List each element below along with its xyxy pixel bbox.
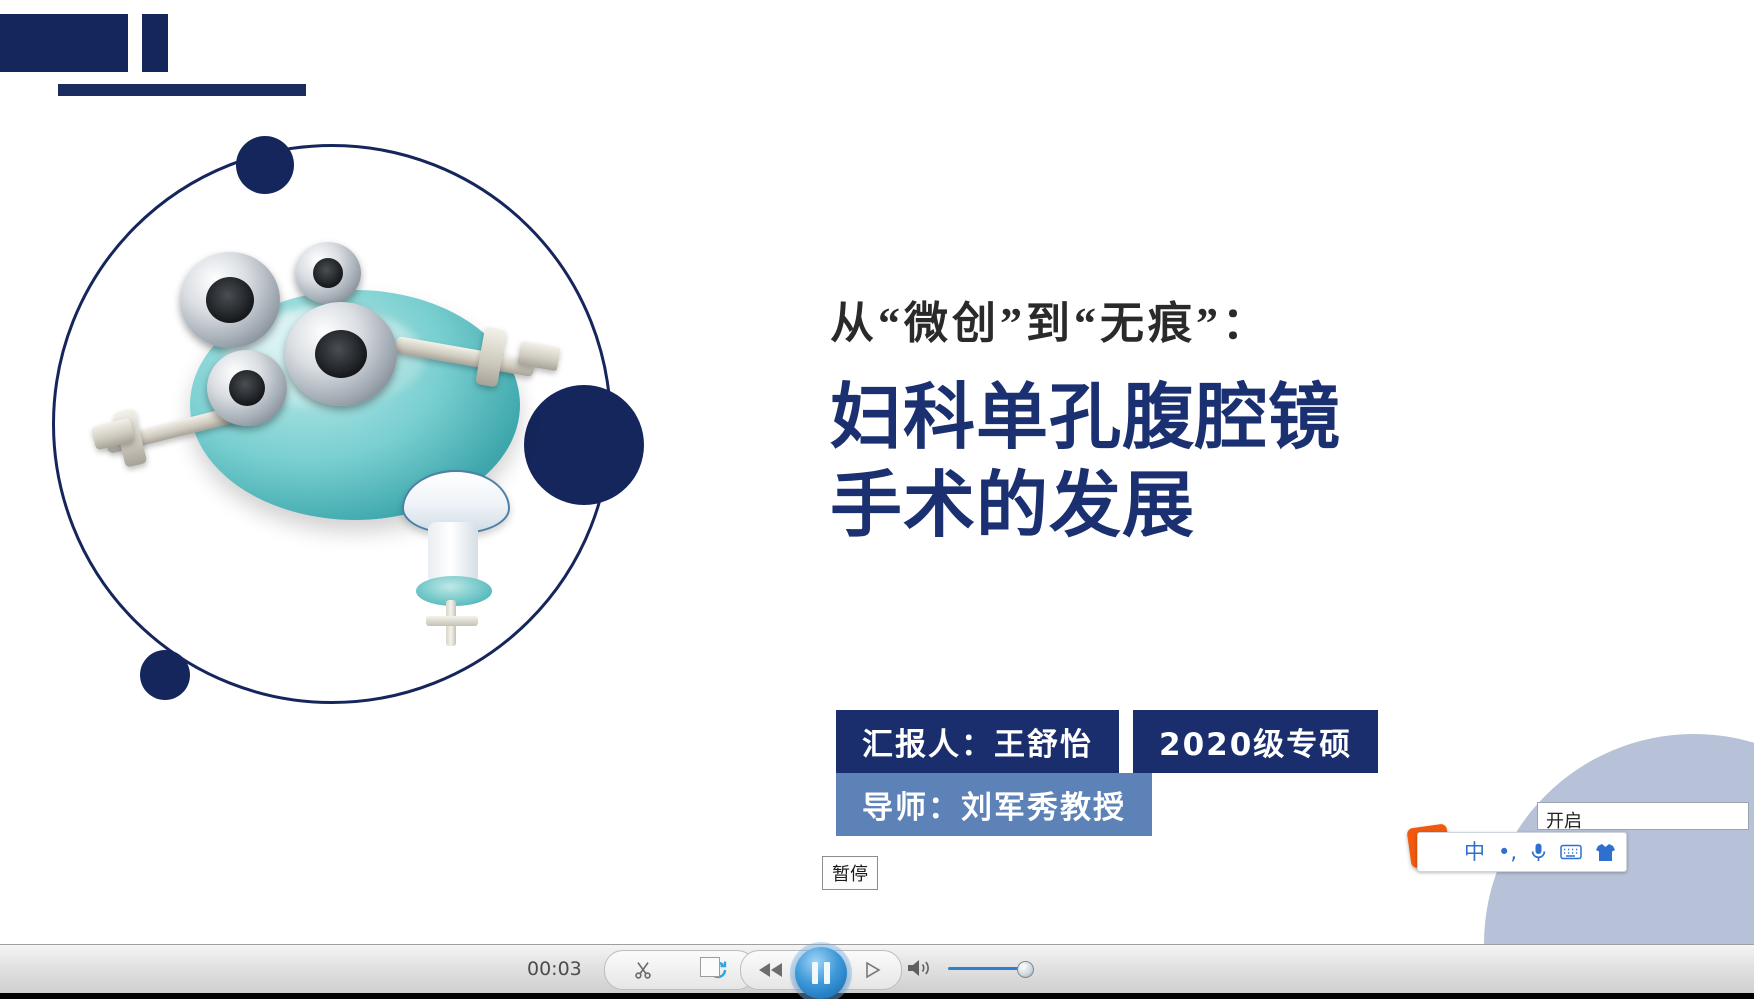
- soft-keyboard-icon[interactable]: [1560, 844, 1582, 860]
- pause-tooltip: 暂停: [822, 856, 878, 890]
- rewind-button[interactable]: [752, 955, 790, 985]
- slide-headline-line-2: 手术的发展: [830, 462, 1470, 550]
- snip-icon[interactable]: [624, 955, 662, 985]
- video-viewport[interactable]: 从“微创”到“无痕”： 妇科单孔腹腔镜 手术的发展 汇报人：王舒怡 2020级专…: [0, 0, 1754, 944]
- sogou-ime-toolbar: 中 •,: [1417, 832, 1627, 872]
- slide-title-block: 从“微创”到“无痕”： 妇科单孔腹腔镜 手术的发展: [830, 300, 1470, 550]
- surgical-device-image: [95, 240, 565, 670]
- decor-node-top: [236, 136, 294, 194]
- media-player-toolbar: 00:03: [0, 944, 1754, 993]
- device-trocar-port-1: [180, 252, 280, 348]
- ime-tooltip: 开启: [1537, 802, 1749, 830]
- voice-input-icon[interactable]: [1530, 842, 1547, 863]
- badge-advisor: 导师：刘军秀教授: [836, 773, 1152, 836]
- device-trocar-port-4: [207, 350, 287, 426]
- punctuation-mode-icon[interactable]: •,: [1498, 842, 1517, 863]
- device-trocar-port-3: [285, 302, 397, 406]
- device-trocar-port-2: [295, 242, 361, 304]
- decor-rect-large: [0, 14, 128, 72]
- pause-button[interactable]: [795, 947, 847, 999]
- volume-button[interactable]: [905, 957, 939, 979]
- volume-slider-knob[interactable]: [1017, 961, 1034, 978]
- slide-headline: 妇科单孔腹腔镜 手术的发展: [830, 374, 1470, 550]
- badge-cohort: 2020级专硕: [1133, 710, 1378, 773]
- slide-kicker: 从“微创”到“无痕”：: [830, 300, 1470, 348]
- skin-shop-icon[interactable]: [1595, 843, 1616, 862]
- stop-button[interactable]: [700, 957, 720, 977]
- player-tools-group: [604, 950, 756, 990]
- slide-headline-line-1: 妇科单孔腹腔镜: [830, 374, 1470, 462]
- pause-bar-left: [812, 962, 818, 984]
- volume-slider-track[interactable]: [948, 967, 1026, 970]
- device-wound-retractor: [400, 470, 510, 650]
- screen-root: 从“微创”到“无痕”： 妇科单孔腹腔镜 手术的发展 汇报人：王舒怡 2020级专…: [0, 0, 1754, 992]
- decor-rect-small: [142, 14, 168, 72]
- retractor-neck: [428, 522, 478, 584]
- slide-credits-row: 汇报人：王舒怡 2020级专硕: [836, 710, 1378, 773]
- decor-underline-bar: [58, 84, 306, 96]
- forward-button[interactable]: [853, 955, 891, 985]
- pause-bar-right: [824, 962, 830, 984]
- elapsed-time-label: 00:03: [527, 958, 582, 980]
- retractor-crossbar: [426, 616, 478, 626]
- badge-presenter: 汇报人：王舒怡: [836, 710, 1119, 773]
- language-mode-icon[interactable]: 中: [1464, 842, 1485, 863]
- presentation-slide: 从“微创”到“无痕”： 妇科单孔腹腔镜 手术的发展 汇报人：王舒怡 2020级专…: [0, 0, 1754, 944]
